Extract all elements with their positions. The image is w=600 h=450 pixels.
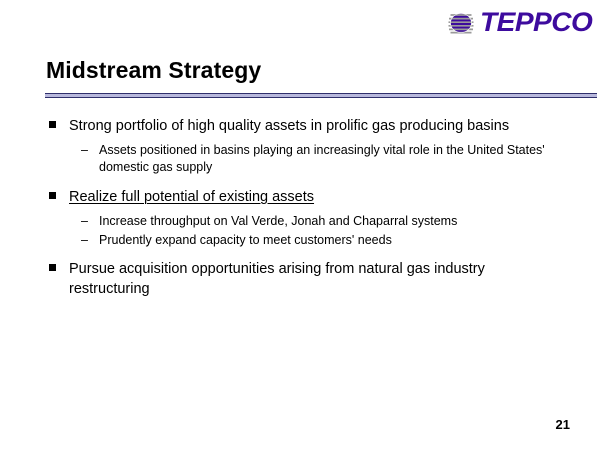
- bullet-text: Strong portfolio of high quality assets …: [69, 118, 509, 134]
- bullet-list: Strong portfolio of high quality assets …: [45, 116, 555, 303]
- dash-bullet-icon: –: [81, 213, 88, 230]
- bullet-item: Realize full potential of existing asset…: [45, 187, 555, 207]
- sub-bullet-list: – Assets positioned in basins playing an…: [45, 142, 555, 177]
- brand-wordmark: TEPPCO: [480, 9, 592, 36]
- square-bullet-icon: [49, 192, 56, 199]
- square-bullet-icon: [49, 121, 56, 128]
- divider-bottom-line: [45, 97, 597, 98]
- bullet-text: Realize full potential of existing asset…: [69, 189, 314, 205]
- sub-bullet-text: Increase throughput on Val Verde, Jonah …: [99, 214, 457, 228]
- bullet-text: Pursue acquisition opportunities arising…: [69, 261, 485, 297]
- square-bullet-icon: [49, 264, 56, 271]
- sub-bullet-item: – Assets positioned in basins playing an…: [45, 142, 555, 177]
- dash-bullet-icon: –: [81, 232, 88, 249]
- sub-bullet-text: Prudently expand capacity to meet custom…: [99, 233, 392, 247]
- globe-icon: [448, 10, 474, 36]
- page-number: 21: [556, 417, 570, 432]
- title-divider: [45, 93, 597, 99]
- sub-bullet-list: – Increase throughput on Val Verde, Jona…: [45, 213, 555, 250]
- sub-bullet-text: Assets positioned in basins playing an i…: [99, 143, 545, 174]
- dash-bullet-icon: –: [81, 142, 88, 159]
- sub-bullet-item: – Prudently expand capacity to meet cust…: [45, 232, 555, 249]
- slide: TEPPCO Midstream Strategy Strong portfol…: [0, 0, 600, 450]
- bullet-item: Strong portfolio of high quality assets …: [45, 116, 555, 136]
- brand-logo: TEPPCO: [448, 9, 588, 36]
- sub-bullet-item: – Increase throughput on Val Verde, Jona…: [45, 213, 555, 230]
- bullet-item: Pursue acquisition opportunities arising…: [45, 259, 555, 299]
- page-title: Midstream Strategy: [46, 57, 261, 84]
